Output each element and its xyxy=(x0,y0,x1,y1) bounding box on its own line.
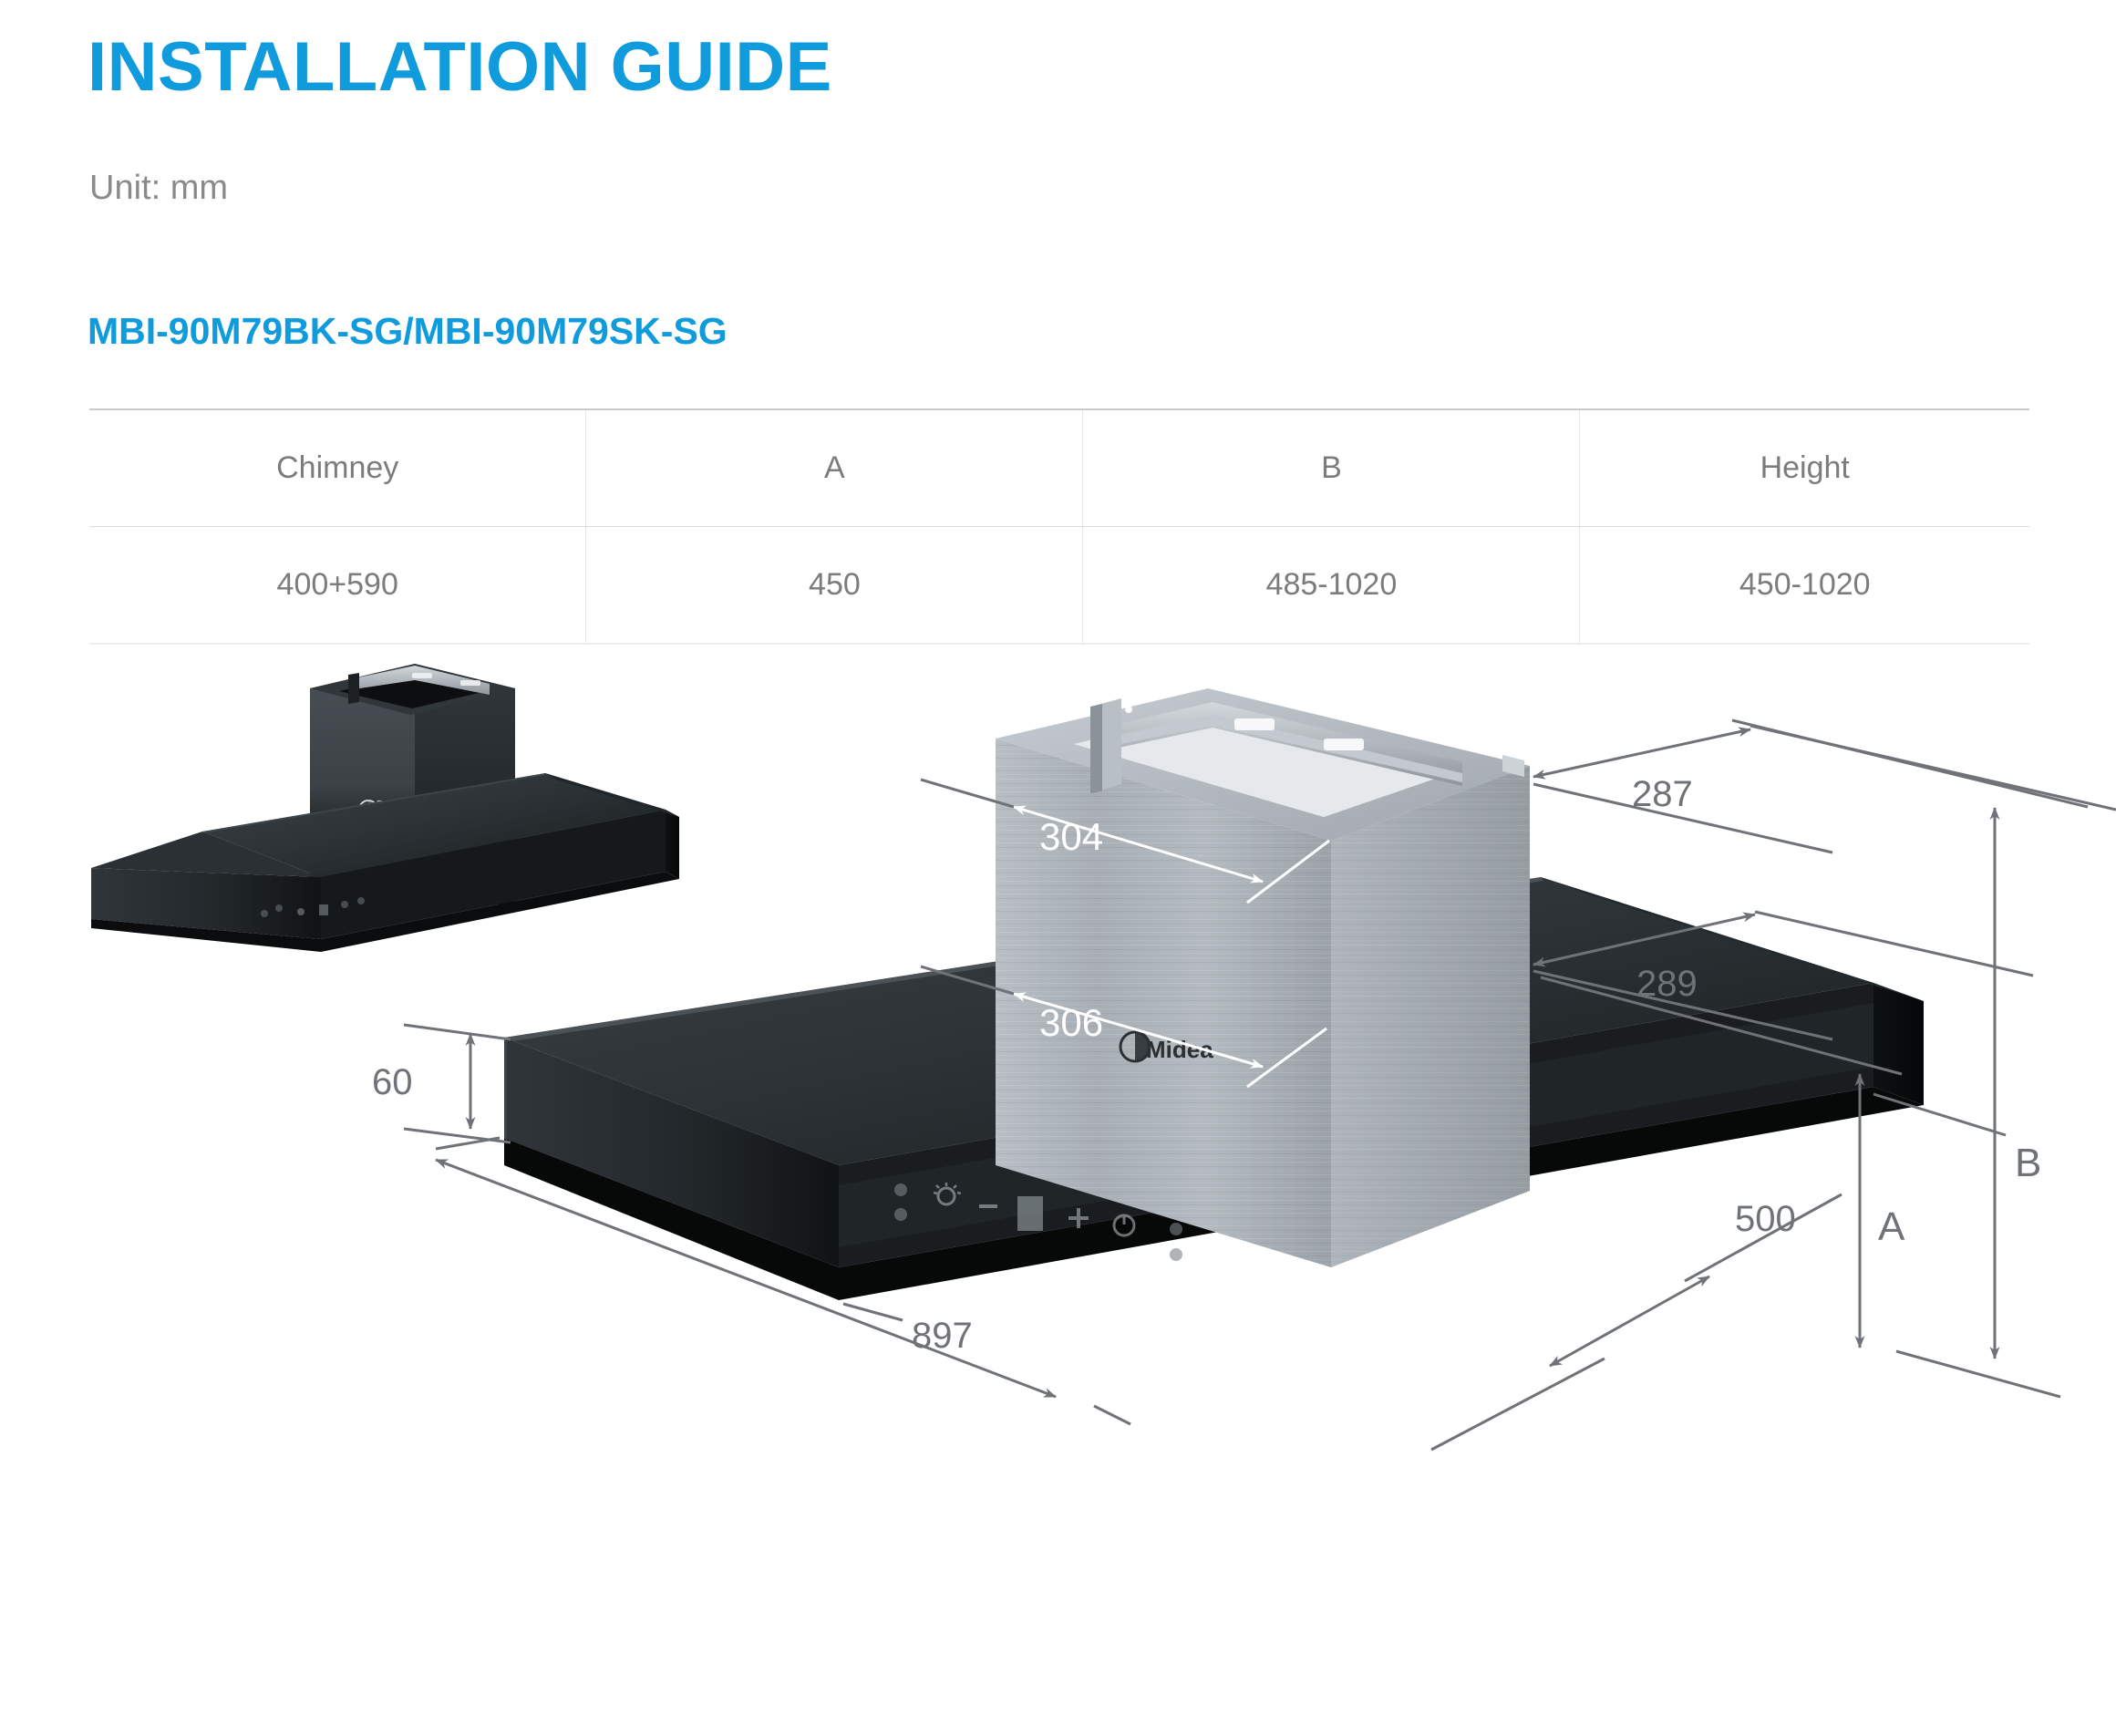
cell-b-value: 485-1020 xyxy=(1083,527,1580,645)
indicator-dot-right-upper xyxy=(1170,1223,1182,1235)
indicator-dot-left-upper xyxy=(894,1183,907,1196)
dimension-label-287: 287 xyxy=(1632,774,1693,814)
dimension-label-500: 500 xyxy=(1735,1199,1796,1239)
column-header-a: A xyxy=(586,409,1083,527)
table-row: 400+590 450 485-1020 450-1020 xyxy=(89,527,2029,645)
column-header-height: Height xyxy=(1580,409,2029,527)
page-title: INSTALLATION GUIDE xyxy=(88,27,832,107)
model-number: MBI-90M79BK-SG/MBI-90M79SK-SG xyxy=(88,310,728,353)
cell-chimney-value: 400+590 xyxy=(89,527,586,645)
dimension-label-A: A xyxy=(1878,1204,1905,1249)
indicator-dot-right-lower xyxy=(1170,1248,1182,1261)
specification-table: Chimney A B Height 400+590 450 485-1020 … xyxy=(89,408,2029,645)
dimension-500: 500 xyxy=(1431,1194,1842,1450)
dimension-label-306: 306 xyxy=(1039,1001,1103,1044)
column-header-b: B xyxy=(1083,409,1580,527)
cell-a-value: 450 xyxy=(586,527,1083,645)
column-header-chimney: Chimney xyxy=(89,409,586,527)
indicator-dot-left-lower xyxy=(894,1208,907,1221)
cell-height-value: 450-1020 xyxy=(1580,527,2029,645)
dimension-label-B: B xyxy=(2015,1141,2041,1185)
product-thumbnail: Midea xyxy=(91,664,679,952)
drawing-area: Midea xyxy=(0,638,2116,1736)
display-panel xyxy=(1017,1196,1043,1231)
dimension-60: 60 xyxy=(372,1025,511,1142)
dimension-label-897: 897 xyxy=(912,1316,973,1356)
table-header-row: Chimney A B Height xyxy=(89,409,2029,527)
unit-note: Unit: mm xyxy=(89,169,228,208)
minus-icon[interactable] xyxy=(979,1204,997,1208)
dimension-287: 287 xyxy=(1533,726,2116,852)
dimension-label-289: 289 xyxy=(1636,964,1698,1004)
dimension-label-304: 304 xyxy=(1039,815,1103,858)
dimension-label-60: 60 xyxy=(372,1062,413,1102)
